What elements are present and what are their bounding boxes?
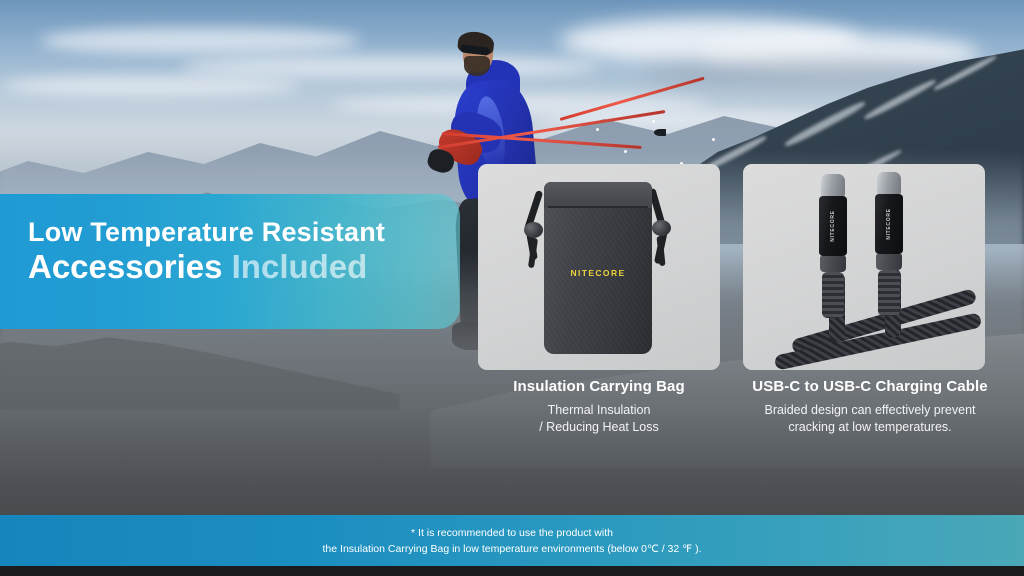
- nitecore-logo-connector-left: NITECORE: [830, 210, 836, 241]
- footer-note-line-1: * It is recommended to use the product w…: [0, 525, 1024, 541]
- product-desc-line-1: Thermal Insulation: [470, 402, 728, 419]
- snow-spray: [624, 150, 627, 153]
- product-desc-line-2: cracking at low temperatures.: [735, 419, 1005, 436]
- footer-note-line-2: the Insulation Carrying Bag in low tempe…: [0, 541, 1024, 557]
- product-title-insulation-bag: Insulation Carrying Bag: [470, 378, 728, 395]
- usbc-strain-relief: [878, 270, 900, 316]
- headline-line-1: Low Temperature Resistant: [28, 218, 460, 246]
- caption-usbc-cable: USB-C to USB-C Charging Cable Braided de…: [735, 378, 1005, 436]
- footer-note: * It is recommended to use the product w…: [0, 515, 1024, 558]
- product-desc-line-2: / Reducing Heat Loss: [470, 419, 728, 436]
- footer-note-band: * It is recommended to use the product w…: [0, 515, 1024, 566]
- snow-spray: [652, 120, 655, 123]
- product-card-insulation-bag[interactable]: NITECORE: [478, 164, 720, 370]
- headline-banner: Low Temperature Resistant Accessories In…: [0, 194, 460, 329]
- caption-insulation-bag: Insulation Carrying Bag Thermal Insulati…: [470, 378, 728, 436]
- usbc-housing: NITECORE: [875, 194, 903, 254]
- headline-line-2: Accessories Included: [28, 249, 460, 286]
- marketing-banner: Low Temperature Resistant Accessories In…: [0, 0, 1024, 576]
- usbc-collar: [820, 256, 846, 272]
- cloud: [0, 76, 300, 96]
- product-desc-usbc-cable: Braided design can effectively prevent c…: [735, 402, 1005, 436]
- product-desc-insulation-bag: Thermal Insulation / Reducing Heat Loss: [470, 402, 728, 436]
- product-title-usbc-cable: USB-C to USB-C Charging Cable: [735, 378, 1005, 395]
- snow-spray: [712, 138, 715, 141]
- usbc-connector-left: NITECORE: [819, 174, 847, 318]
- nitecore-logo-bag: NITECORE: [544, 268, 652, 278]
- footer-bottom-bar: [0, 566, 1024, 576]
- ski-pole-tip: [654, 129, 666, 136]
- usbc-tip: [877, 172, 901, 194]
- bag-seam: [548, 206, 648, 208]
- usbc-strain-relief: [822, 272, 844, 318]
- usbc-housing: NITECORE: [819, 196, 847, 256]
- usbc-collar: [876, 254, 902, 270]
- usbc-tip: [821, 174, 845, 196]
- cloud: [40, 28, 360, 54]
- bag-top-fold: [544, 182, 652, 208]
- bag-cord-toggle: [652, 220, 671, 236]
- usbc-connector-right: NITECORE: [875, 172, 903, 316]
- bag-cord-toggle: [524, 222, 543, 238]
- nitecore-logo-connector-right: NITECORE: [886, 208, 892, 239]
- product-desc-line-1: Braided design can effectively prevent: [735, 402, 1005, 419]
- snow-spray: [596, 128, 599, 131]
- headline-included-word: Included: [232, 248, 368, 285]
- skier-beard: [464, 56, 490, 76]
- product-card-usbc-cable[interactable]: NITECORE NITECORE: [743, 164, 985, 370]
- headline-accessories-word: Accessories: [28, 248, 232, 285]
